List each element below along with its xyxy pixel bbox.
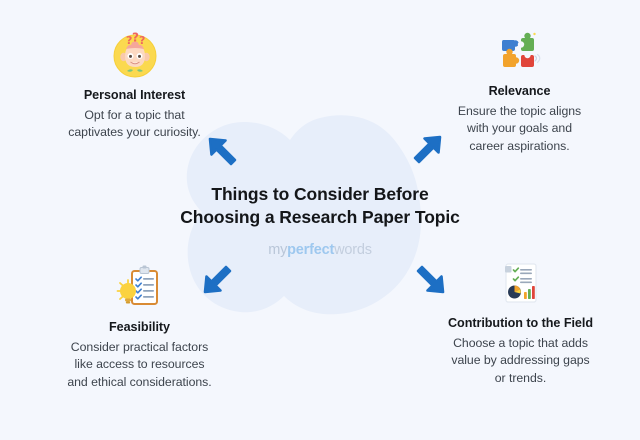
brand-logo-part-words: words	[334, 242, 372, 258]
thinking-face-emoji-icon-wrap: ? ? ?	[47, 30, 222, 82]
item-relevance-desc-line-2: with your goals and	[432, 120, 607, 137]
item-feasibility-description: Consider practical factors like access t…	[47, 339, 232, 391]
svg-text:?: ?	[132, 32, 139, 45]
item-feasibility-desc-line-1: Consider practical factors	[47, 339, 232, 356]
brand-logo-part-perfect: perfect	[287, 242, 334, 258]
brand-logo-part-my: my	[268, 242, 287, 258]
page-title-line-1: Things to Consider Before	[175, 183, 465, 206]
clipboard-lightbulb-icon-wrap	[47, 262, 232, 314]
item-feasibility-title: Feasibility	[47, 320, 232, 334]
thinking-face-emoji-icon: ? ? ?	[111, 32, 159, 80]
puzzle-pieces-icon	[496, 28, 544, 76]
item-relevance-desc-line-1: Ensure the topic aligns	[432, 103, 607, 120]
page-title-line-2: Choosing a Research Paper Topic	[175, 206, 465, 229]
item-personal-interest: ? ? ? Personal Interest Opt for a topic …	[47, 30, 222, 142]
svg-text:?: ?	[139, 34, 145, 47]
item-relevance-description: Ensure the topic aligns with your goals …	[432, 103, 607, 155]
brand-logo: myperfectwords	[175, 243, 465, 258]
report-chart-icon	[497, 260, 545, 308]
item-personal-interest-title: Personal Interest	[47, 88, 222, 102]
item-personal-interest-desc-line-2: captivates your curiosity.	[47, 124, 222, 141]
item-contribution-desc-line-1: Choose a topic that adds	[428, 335, 613, 352]
page-title: Things to Consider Before Choosing a Res…	[175, 183, 465, 230]
item-relevance: Relevance Ensure the topic aligns with y…	[432, 26, 607, 155]
center-text-block: Things to Consider Before Choosing a Res…	[175, 183, 465, 257]
report-chart-icon-wrap	[428, 258, 613, 310]
item-relevance-title: Relevance	[432, 84, 607, 98]
item-contribution-to-the-field-title: Contribution to the Field	[428, 316, 613, 330]
clipboard-lightbulb-icon	[115, 264, 165, 312]
item-feasibility-desc-line-2: like access to resources	[47, 356, 232, 373]
infographic-canvas: Things to Consider Before Choosing a Res…	[0, 0, 640, 440]
item-personal-interest-desc-line-1: Opt for a topic that	[47, 107, 222, 124]
item-contribution-desc-line-3: or trends.	[428, 370, 613, 387]
item-relevance-desc-line-3: career aspirations.	[432, 138, 607, 155]
item-personal-interest-description: Opt for a topic that captivates your cur…	[47, 107, 222, 142]
item-contribution-to-the-field: Contribution to the Field Choose a topic…	[428, 258, 613, 387]
puzzle-pieces-icon-wrap	[432, 26, 607, 78]
item-contribution-desc-line-2: value by addressing gaps	[428, 352, 613, 369]
item-contribution-to-the-field-description: Choose a topic that adds value by addres…	[428, 335, 613, 387]
item-feasibility-desc-line-3: and ethical considerations.	[47, 374, 232, 391]
item-feasibility: Feasibility Consider practical factors l…	[47, 262, 232, 391]
